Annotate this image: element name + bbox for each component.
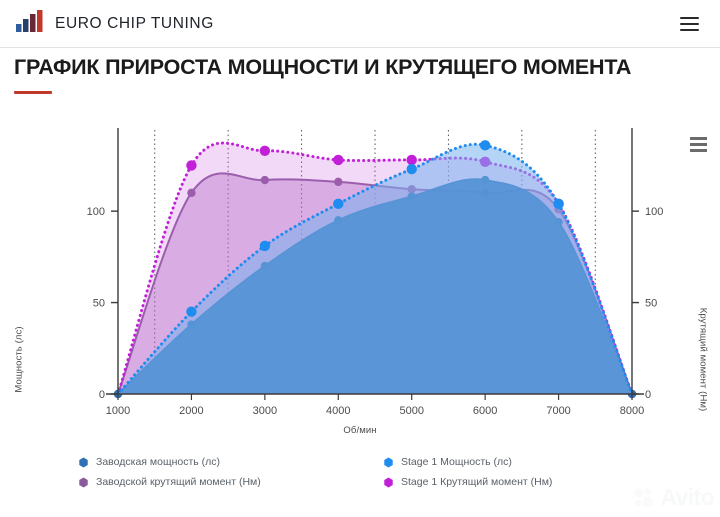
y-axis-right-tick-label: 50 bbox=[645, 298, 657, 310]
data-point[interactable] bbox=[186, 307, 196, 317]
hamburger-menu-icon[interactable] bbox=[677, 14, 702, 34]
y-axis-right-tick-label: 0 bbox=[645, 389, 651, 401]
legend-item[interactable]: Заводская мощность (лс) bbox=[78, 456, 383, 468]
x-axis-tick-label: 5000 bbox=[399, 405, 423, 417]
legend-item-label: Stage 1 Мощность (лс) bbox=[401, 456, 512, 468]
x-axis-tick-label: 6000 bbox=[473, 405, 497, 417]
y-axis-left-tick-label: 0 bbox=[99, 389, 105, 401]
legend-column-stage1: Stage 1 Мощность (лс)Stage 1 Крутящий мо… bbox=[383, 456, 552, 488]
legend-item-label: Заводская мощность (лс) bbox=[96, 456, 220, 468]
y-axis-right-title: Крутящий момент (Нм) bbox=[698, 290, 709, 430]
data-point[interactable] bbox=[553, 199, 563, 209]
legend-marker-stock-power bbox=[78, 457, 89, 468]
brand-name: EURO CHIP TUNING bbox=[55, 15, 214, 33]
data-point[interactable] bbox=[260, 146, 270, 156]
chart-legend: Заводская мощность (лс)Заводской крутящи… bbox=[0, 456, 720, 488]
data-point[interactable] bbox=[480, 140, 490, 150]
bar-chart-logo-icon bbox=[16, 10, 46, 37]
x-axis-tick-label: 1000 bbox=[106, 405, 130, 417]
data-point[interactable] bbox=[407, 155, 417, 165]
legend-item[interactable]: Stage 1 Крутящий момент (Нм) bbox=[383, 476, 552, 488]
legend-marker-stage1-power bbox=[383, 457, 394, 468]
page-title-block: ГРАФИК ПРИРОСТА МОЩНОСТИ И КРУТЯЩЕГО МОМ… bbox=[14, 55, 631, 94]
x-axis-tick-label: 7000 bbox=[546, 405, 570, 417]
x-axis-tick-label: 8000 bbox=[620, 405, 644, 417]
legend-column-stock: Заводская мощность (лс)Заводской крутящи… bbox=[78, 456, 383, 488]
legend-marker-stock-torque bbox=[78, 477, 89, 488]
data-point[interactable] bbox=[186, 160, 196, 170]
y-axis-left-tick-label: 50 bbox=[93, 298, 105, 310]
site-header: EURO CHIP TUNING bbox=[0, 0, 720, 48]
y-axis-left-tick-label: 100 bbox=[87, 206, 105, 218]
legend-marker-stage1-torque bbox=[383, 477, 394, 488]
page-title: ГРАФИК ПРИРОСТА МОЩНОСТИ И КРУТЯЩЕГО МОМ… bbox=[14, 55, 631, 80]
y-axis-right-tick-label: 100 bbox=[645, 206, 663, 218]
chart-plot-area: 0501000501001000200030004000500060007000… bbox=[0, 118, 720, 418]
x-axis-tick-label: 3000 bbox=[253, 405, 277, 417]
title-accent-rule bbox=[14, 91, 52, 94]
y-axis-left-title: Мощность (лс) bbox=[14, 315, 25, 405]
data-point[interactable] bbox=[407, 164, 417, 174]
x-axis-tick-label: 2000 bbox=[179, 405, 203, 417]
legend-item[interactable]: Заводской крутящий момент (Нм) bbox=[78, 476, 383, 488]
x-axis-tick-label: 4000 bbox=[326, 405, 350, 417]
data-point[interactable] bbox=[333, 199, 343, 209]
legend-item-label: Заводской крутящий момент (Нм) bbox=[96, 476, 261, 488]
x-axis-title: Об/мин bbox=[0, 425, 720, 436]
power-torque-chart: 0501000501001000200030004000500060007000… bbox=[0, 118, 720, 517]
legend-item[interactable]: Stage 1 Мощность (лс) bbox=[383, 456, 552, 468]
brand-logo[interactable]: EURO CHIP TUNING bbox=[16, 10, 214, 37]
screenshot-root: EURO CHIP TUNING ГРАФИК ПРИРОСТА МОЩНОСТ… bbox=[0, 0, 720, 517]
data-point[interactable] bbox=[260, 241, 270, 251]
data-point[interactable] bbox=[333, 155, 343, 165]
legend-item-label: Stage 1 Крутящий момент (Нм) bbox=[401, 476, 552, 488]
